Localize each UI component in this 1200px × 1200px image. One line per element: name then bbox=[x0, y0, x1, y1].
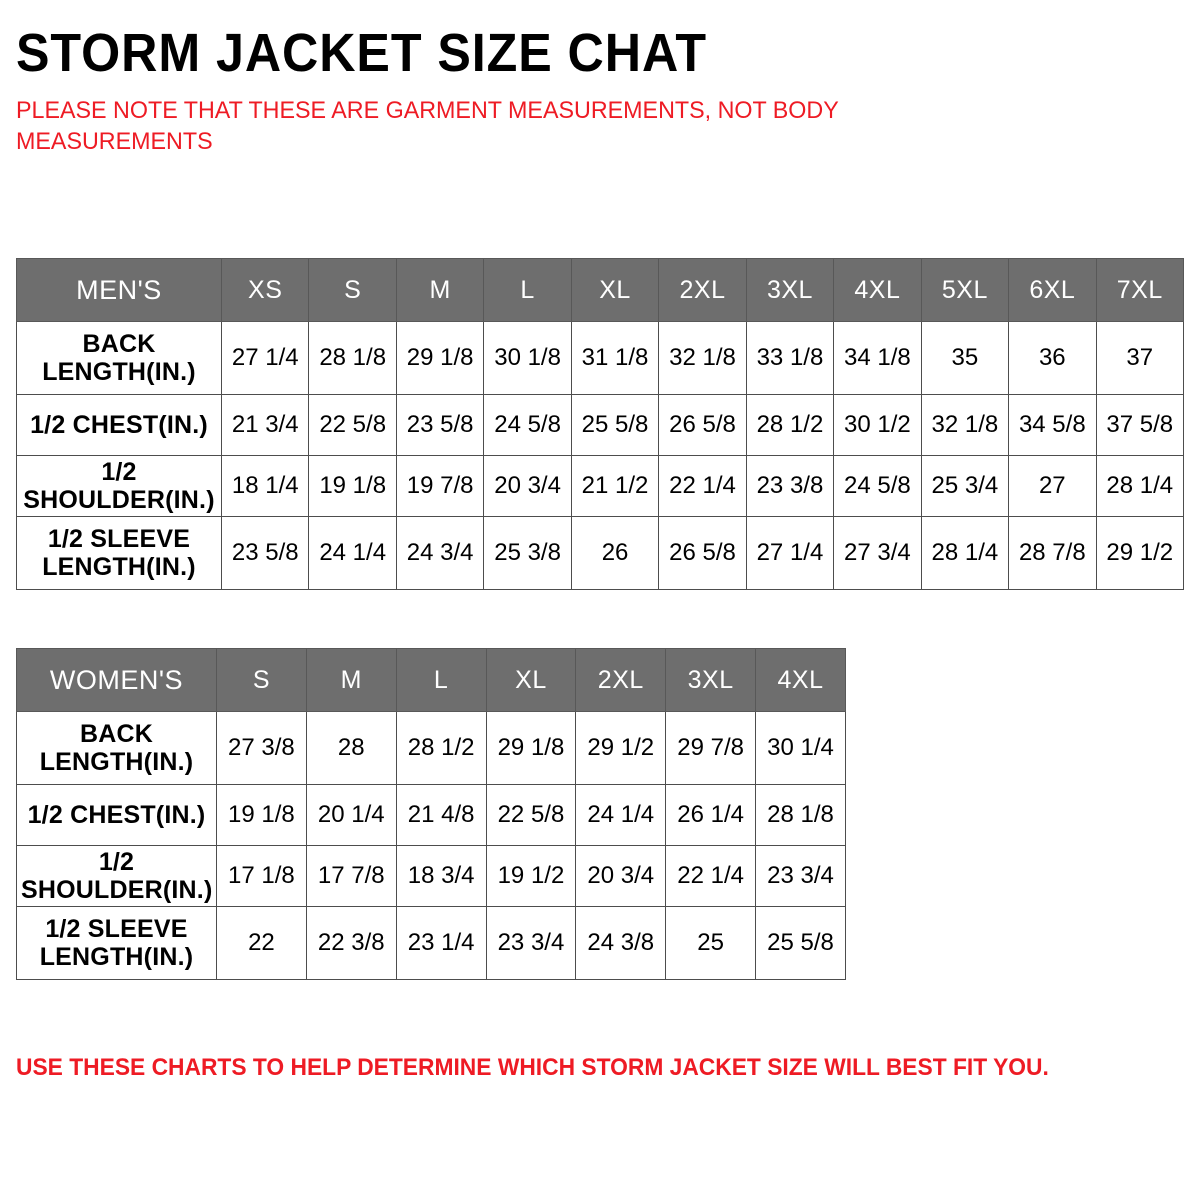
mens-measurement-label: 1/2 CHEST(IN.) bbox=[17, 395, 222, 456]
measurement-value: 24 5/8 bbox=[484, 395, 571, 456]
measurement-label-line2: LENGTH(IN.) bbox=[21, 748, 212, 776]
mens-measurement-label: 1/2 SHOULDER(IN.) bbox=[17, 456, 222, 517]
measurement-value-text: 24 3/4 bbox=[407, 539, 474, 566]
measurement-value-text: 29 1/8 bbox=[407, 344, 474, 371]
measurement-value: 29 7/8 bbox=[666, 712, 756, 785]
measurement-value: 18 3/4 bbox=[396, 846, 486, 907]
measurement-value-text: 18 3/4 bbox=[408, 862, 475, 889]
measurement-value-text: 27 1/4 bbox=[757, 539, 824, 566]
measurement-value-text: 20 3/4 bbox=[494, 472, 561, 499]
measurement-value-text: 21 3/4 bbox=[232, 411, 299, 438]
table-row: 1/2 CHEST(IN.)19 1/820 1/421 4/822 5/824… bbox=[17, 785, 846, 846]
measurement-value-text: 28 1/2 bbox=[757, 411, 824, 438]
measurement-value: 30 1/4 bbox=[756, 712, 846, 785]
mens-size-header-xl: XL bbox=[571, 259, 658, 322]
measurement-value: 37 5/8 bbox=[1096, 395, 1183, 456]
measurement-value-text: 25 bbox=[697, 929, 724, 956]
womens-size-header-4xl: 4XL bbox=[756, 649, 846, 712]
measurement-value: 29 1/8 bbox=[396, 322, 483, 395]
measurement-value-text: 22 5/8 bbox=[498, 801, 565, 828]
measurement-value: 26 bbox=[571, 517, 658, 590]
mens-table-title: MEN'S bbox=[17, 259, 222, 322]
measurement-value-text: 37 bbox=[1126, 344, 1153, 371]
measurement-value-text: 35 bbox=[952, 344, 979, 371]
measurement-value: 25 bbox=[666, 907, 756, 980]
measurement-value-text: 36 bbox=[1039, 344, 1066, 371]
measurement-value: 24 1/4 bbox=[309, 517, 396, 590]
mens-table-head: MEN'S XSSMLXL2XL3XL4XL5XL6XL7XL bbox=[17, 259, 1184, 322]
measurement-label-line1: BACK bbox=[80, 720, 153, 748]
table-row: 1/2 SLEEVELENGTH(IN.)23 5/824 1/424 3/42… bbox=[17, 517, 1184, 590]
measurement-value: 27 3/4 bbox=[834, 517, 921, 590]
womens-size-header-s: S bbox=[217, 649, 307, 712]
measurement-value: 22 bbox=[217, 907, 307, 980]
measurement-value: 25 3/8 bbox=[484, 517, 571, 590]
measurement-value: 24 1/4 bbox=[576, 785, 666, 846]
measurement-value: 28 1/8 bbox=[309, 322, 396, 395]
measurement-label-line1: 1/2 CHEST(IN.) bbox=[28, 801, 206, 829]
womens-size-header-xl: XL bbox=[486, 649, 576, 712]
measurement-value-text: 29 7/8 bbox=[677, 734, 744, 761]
measurement-value: 19 7/8 bbox=[396, 456, 483, 517]
measurement-value: 33 1/8 bbox=[746, 322, 833, 395]
measurement-value: 23 5/8 bbox=[396, 395, 483, 456]
measurement-value-text: 18 1/4 bbox=[232, 472, 299, 499]
measurement-value-text: 26 5/8 bbox=[669, 539, 736, 566]
measurement-value: 27 1/4 bbox=[222, 322, 309, 395]
measurement-value-text: 29 1/8 bbox=[498, 734, 565, 761]
measurement-value: 28 bbox=[306, 712, 396, 785]
measurement-value-text: 19 7/8 bbox=[407, 472, 474, 499]
measurement-value: 18 1/4 bbox=[222, 456, 309, 517]
table-row: BACKLENGTH(IN.)27 1/428 1/829 1/830 1/83… bbox=[17, 322, 1184, 395]
womens-size-header-l: L bbox=[396, 649, 486, 712]
page-title: STORM JACKET SIZE CHAT bbox=[16, 0, 1102, 80]
measurement-value: 17 1/8 bbox=[217, 846, 307, 907]
measurement-value-text: 34 5/8 bbox=[1019, 411, 1086, 438]
garment-measurement-note: PLEASE NOTE THAT THESE ARE GARMENT MEASU… bbox=[16, 80, 947, 157]
fit-guidance-note: USE THESE CHARTS TO HELP DETERMINE WHICH… bbox=[16, 1054, 1049, 1083]
measurement-value: 29 1/2 bbox=[576, 712, 666, 785]
measurement-value: 20 3/4 bbox=[576, 846, 666, 907]
womens-header-row: WOMEN'S SMLXL2XL3XL4XL bbox=[17, 649, 846, 712]
measurement-label-line1: BACK bbox=[82, 330, 155, 358]
measurement-value-text: 25 3/4 bbox=[931, 472, 998, 499]
measurement-value-text: 33 1/8 bbox=[757, 344, 824, 371]
measurement-value: 37 bbox=[1096, 322, 1183, 395]
measurement-value-text: 19 1/8 bbox=[319, 472, 386, 499]
measurement-value: 27 1/4 bbox=[746, 517, 833, 590]
measurement-value: 25 5/8 bbox=[756, 907, 846, 980]
womens-table-head: WOMEN'S SMLXL2XL3XL4XL bbox=[17, 649, 846, 712]
measurement-value: 17 7/8 bbox=[306, 846, 396, 907]
table-row: 1/2 SHOULDER(IN.)17 1/817 7/818 3/419 1/… bbox=[17, 846, 846, 907]
measurement-value-text: 24 3/8 bbox=[587, 929, 654, 956]
measurement-value-text: 25 5/8 bbox=[767, 929, 834, 956]
mens-measurement-label: BACKLENGTH(IN.) bbox=[17, 322, 222, 395]
measurement-value: 23 3/4 bbox=[486, 907, 576, 980]
womens-measurement-label: BACKLENGTH(IN.) bbox=[17, 712, 217, 785]
measurement-value: 24 3/8 bbox=[576, 907, 666, 980]
measurement-value-text: 22 1/4 bbox=[677, 862, 744, 889]
measurement-value: 25 5/8 bbox=[571, 395, 658, 456]
measurement-label-line1: 1/2 SHOULDER(IN.) bbox=[23, 458, 214, 514]
womens-table-body: BACKLENGTH(IN.)27 3/82828 1/229 1/829 1/… bbox=[17, 712, 846, 980]
measurement-value: 26 5/8 bbox=[659, 517, 746, 590]
mens-size-header-6xl: 6XL bbox=[1009, 259, 1096, 322]
measurement-value-text: 31 1/8 bbox=[582, 344, 649, 371]
table-row: BACKLENGTH(IN.)27 3/82828 1/229 1/829 1/… bbox=[17, 712, 846, 785]
measurement-value-text: 28 1/4 bbox=[1106, 472, 1173, 499]
measurement-value-text: 26 bbox=[602, 539, 629, 566]
measurement-value: 32 1/8 bbox=[921, 395, 1008, 456]
measurement-value-text: 29 1/2 bbox=[1106, 539, 1173, 566]
mens-size-header-4xl: 4XL bbox=[834, 259, 921, 322]
table-row: 1/2 SLEEVELENGTH(IN.)2222 3/823 1/423 3/… bbox=[17, 907, 846, 980]
womens-measurement-label: 1/2 CHEST(IN.) bbox=[17, 785, 217, 846]
womens-measurement-label: 1/2 SHOULDER(IN.) bbox=[17, 846, 217, 907]
mens-measurement-label: 1/2 SLEEVELENGTH(IN.) bbox=[17, 517, 222, 590]
measurement-value: 28 1/2 bbox=[396, 712, 486, 785]
measurement-value-text: 22 3/8 bbox=[318, 929, 385, 956]
measurement-value-text: 17 7/8 bbox=[318, 862, 385, 889]
measurement-value: 22 5/8 bbox=[309, 395, 396, 456]
measurement-label-line1: 1/2 SLEEVE bbox=[45, 915, 187, 943]
measurement-value-text: 26 1/4 bbox=[677, 801, 744, 828]
measurement-value: 21 3/4 bbox=[222, 395, 309, 456]
measurement-value: 30 1/2 bbox=[834, 395, 921, 456]
measurement-value-text: 23 5/8 bbox=[407, 411, 474, 438]
measurement-value-text: 20 3/4 bbox=[587, 862, 654, 889]
measurement-value: 28 1/8 bbox=[756, 785, 846, 846]
measurement-value-text: 32 1/8 bbox=[931, 411, 998, 438]
measurement-label-line2: LENGTH(IN.) bbox=[21, 553, 217, 581]
measurement-value-text: 26 5/8 bbox=[669, 411, 736, 438]
measurement-value: 31 1/8 bbox=[571, 322, 658, 395]
measurement-value: 24 3/4 bbox=[396, 517, 483, 590]
measurement-value: 35 bbox=[921, 322, 1008, 395]
measurement-value: 22 5/8 bbox=[486, 785, 576, 846]
womens-measurement-label: 1/2 SLEEVELENGTH(IN.) bbox=[17, 907, 217, 980]
measurement-value: 29 1/8 bbox=[486, 712, 576, 785]
measurement-value-text: 23 3/4 bbox=[498, 929, 565, 956]
measurement-value-text: 25 3/8 bbox=[494, 539, 561, 566]
mens-size-header-7xl: 7XL bbox=[1096, 259, 1183, 322]
measurement-value: 23 3/4 bbox=[756, 846, 846, 907]
measurement-value-text: 24 5/8 bbox=[494, 411, 561, 438]
measurement-value: 20 3/4 bbox=[484, 456, 571, 517]
measurement-value-text: 23 3/8 bbox=[757, 472, 824, 499]
size-chart-page: STORM JACKET SIZE CHAT PLEASE NOTE THAT … bbox=[0, 0, 1200, 1200]
measurement-value-text: 27 3/4 bbox=[844, 539, 911, 566]
measurement-value-text: 28 1/4 bbox=[931, 539, 998, 566]
measurement-value: 23 5/8 bbox=[222, 517, 309, 590]
measurement-value: 24 5/8 bbox=[834, 456, 921, 517]
measurement-value-text: 22 5/8 bbox=[319, 411, 386, 438]
measurement-value: 21 4/8 bbox=[396, 785, 486, 846]
measurement-value-text: 23 5/8 bbox=[232, 539, 299, 566]
measurement-value: 26 1/4 bbox=[666, 785, 756, 846]
womens-size-header-2xl: 2XL bbox=[576, 649, 666, 712]
measurement-value: 22 1/4 bbox=[666, 846, 756, 907]
measurement-value: 34 1/8 bbox=[834, 322, 921, 395]
measurement-value-text: 23 1/4 bbox=[408, 929, 475, 956]
measurement-value-text: 17 1/8 bbox=[228, 862, 295, 889]
womens-size-header-3xl: 3XL bbox=[666, 649, 756, 712]
measurement-value-text: 28 1/2 bbox=[408, 734, 475, 761]
measurement-value: 22 3/8 bbox=[306, 907, 396, 980]
measurement-value: 21 1/2 bbox=[571, 456, 658, 517]
mens-size-table: MEN'S XSSMLXL2XL3XL4XL5XL6XL7XL BACKLENG… bbox=[16, 258, 1184, 590]
measurement-label-line1: 1/2 CHEST(IN.) bbox=[30, 411, 208, 439]
measurement-value-text: 37 5/8 bbox=[1106, 411, 1173, 438]
measurement-label-line2: LENGTH(IN.) bbox=[21, 358, 217, 386]
mens-size-table-block: MEN'S XSSMLXL2XL3XL4XL5XL6XL7XL BACKLENG… bbox=[16, 258, 1184, 590]
measurement-value-text: 19 1/8 bbox=[228, 801, 295, 828]
measurement-value-text: 21 4/8 bbox=[408, 801, 475, 828]
measurement-value: 29 1/2 bbox=[1096, 517, 1183, 590]
mens-size-header-m: M bbox=[396, 259, 483, 322]
measurement-value-text: 27 1/4 bbox=[232, 344, 299, 371]
measurement-value-text: 21 1/2 bbox=[582, 472, 649, 499]
measurement-value: 34 5/8 bbox=[1009, 395, 1096, 456]
measurement-value: 27 bbox=[1009, 456, 1096, 517]
mens-size-header-3xl: 3XL bbox=[746, 259, 833, 322]
measurement-value-text: 19 1/2 bbox=[498, 862, 565, 889]
measurement-value-text: 30 1/8 bbox=[494, 344, 561, 371]
womens-size-table: WOMEN'S SMLXL2XL3XL4XL BACKLENGTH(IN.)27… bbox=[16, 648, 846, 980]
measurement-value-text: 27 3/8 bbox=[228, 734, 295, 761]
measurement-value: 25 3/4 bbox=[921, 456, 1008, 517]
measurement-value-text: 27 bbox=[1039, 472, 1066, 499]
measurement-value: 19 1/8 bbox=[217, 785, 307, 846]
measurement-value-text: 28 1/8 bbox=[767, 801, 834, 828]
measurement-value-text: 28 1/8 bbox=[319, 344, 386, 371]
measurement-value-text: 32 1/8 bbox=[669, 344, 736, 371]
mens-header-row: MEN'S XSSMLXL2XL3XL4XL5XL6XL7XL bbox=[17, 259, 1184, 322]
measurement-value: 22 1/4 bbox=[659, 456, 746, 517]
womens-size-table-block: WOMEN'S SMLXL2XL3XL4XL BACKLENGTH(IN.)27… bbox=[16, 648, 846, 980]
measurement-value-text: 30 1/4 bbox=[767, 734, 834, 761]
measurement-label-line2: LENGTH(IN.) bbox=[21, 943, 212, 971]
measurement-value: 23 3/8 bbox=[746, 456, 833, 517]
measurement-value-text: 22 1/4 bbox=[669, 472, 736, 499]
measurement-value-text: 24 1/4 bbox=[587, 801, 654, 828]
measurement-label-line1: 1/2 SLEEVE bbox=[48, 525, 190, 553]
measurement-value-text: 34 1/8 bbox=[844, 344, 911, 371]
mens-table-body: BACKLENGTH(IN.)27 1/428 1/829 1/830 1/83… bbox=[17, 322, 1184, 590]
womens-table-title: WOMEN'S bbox=[17, 649, 217, 712]
measurement-value: 28 7/8 bbox=[1009, 517, 1096, 590]
table-row: 1/2 SHOULDER(IN.)18 1/419 1/819 7/820 3/… bbox=[17, 456, 1184, 517]
measurement-value: 19 1/2 bbox=[486, 846, 576, 907]
womens-size-header-m: M bbox=[306, 649, 396, 712]
mens-size-header-l: L bbox=[484, 259, 571, 322]
measurement-value-text: 28 7/8 bbox=[1019, 539, 1086, 566]
measurement-value: 23 1/4 bbox=[396, 907, 486, 980]
measurement-value-text: 24 1/4 bbox=[319, 539, 386, 566]
measurement-value: 28 1/4 bbox=[921, 517, 1008, 590]
measurement-value: 27 3/8 bbox=[217, 712, 307, 785]
measurement-value-text: 23 3/4 bbox=[767, 862, 834, 889]
measurement-value-text: 28 bbox=[338, 734, 365, 761]
measurement-value: 28 1/4 bbox=[1096, 456, 1183, 517]
measurement-value: 28 1/2 bbox=[746, 395, 833, 456]
measurement-value-text: 25 5/8 bbox=[582, 411, 649, 438]
mens-size-header-s: S bbox=[309, 259, 396, 322]
measurement-value: 20 1/4 bbox=[306, 785, 396, 846]
measurement-value: 19 1/8 bbox=[309, 456, 396, 517]
mens-size-header-2xl: 2XL bbox=[659, 259, 746, 322]
mens-size-header-5xl: 5XL bbox=[921, 259, 1008, 322]
measurement-value-text: 20 1/4 bbox=[318, 801, 385, 828]
mens-size-header-xs: XS bbox=[222, 259, 309, 322]
measurement-value-text: 30 1/2 bbox=[844, 411, 911, 438]
measurement-value: 36 bbox=[1009, 322, 1096, 395]
measurement-label-line1: 1/2 SHOULDER(IN.) bbox=[21, 848, 212, 904]
measurement-value: 26 5/8 bbox=[659, 395, 746, 456]
measurement-value-text: 29 1/2 bbox=[587, 734, 654, 761]
table-row: 1/2 CHEST(IN.)21 3/422 5/823 5/824 5/825… bbox=[17, 395, 1184, 456]
measurement-value-text: 24 5/8 bbox=[844, 472, 911, 499]
measurement-value-text: 22 bbox=[248, 929, 275, 956]
measurement-value: 32 1/8 bbox=[659, 322, 746, 395]
measurement-value: 30 1/8 bbox=[484, 322, 571, 395]
